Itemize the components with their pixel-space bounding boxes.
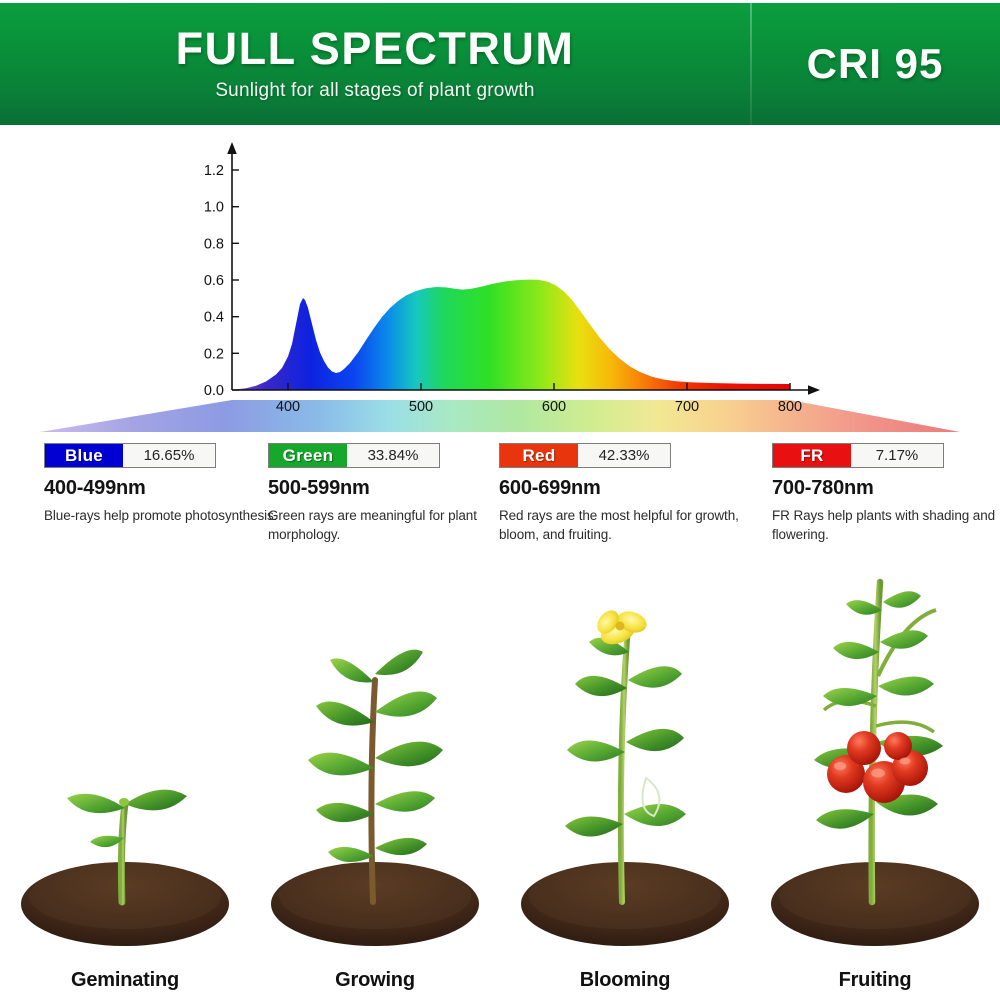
legend-description: Green rays are meaningful for plant morp… <box>268 506 506 544</box>
x-tick-label: 800 <box>778 399 802 415</box>
spectrum-chart: 0.0 0.2 0.4 0.6 0.8 1.0 1.2 400 500 600 <box>0 128 1000 438</box>
stage-blooming: Blooming <box>500 556 750 1000</box>
stage-fruiting: Fruiting <box>750 556 1000 1000</box>
legend-description: Red rays are the most helpful for growth… <box>499 506 767 544</box>
legend-range: 600-699nm <box>499 477 767 500</box>
header-banner: FULL SPECTRUM Sunlight for all stages of… <box>0 3 1000 125</box>
y-tick-label: 0.4 <box>204 310 224 326</box>
flowering-plant-illustration <box>500 556 750 956</box>
y-tick-label: 0.2 <box>204 346 224 362</box>
stage-label: Fruiting <box>750 969 1000 992</box>
x-tick-label: 600 <box>542 399 566 415</box>
x-tick-label: 500 <box>409 399 433 415</box>
header-right-section: CRI 95 <box>750 3 1000 125</box>
page-title: FULL SPECTRUM <box>176 26 575 71</box>
legend-range: 700-780nm <box>772 477 1000 500</box>
y-tick-label: 0.0 <box>204 383 224 399</box>
y-axis-ticks <box>232 170 239 390</box>
stage-label: Blooming <box>500 969 750 992</box>
legend-item-green: Green 33.84% 500-599nm Green rays are me… <box>268 443 506 544</box>
legend-item-fr: FR 7.17% 700-780nm FR Rays help plants w… <box>772 443 1000 544</box>
stage-label: Geminating <box>0 969 250 992</box>
young-plant-illustration <box>250 556 500 956</box>
spectrum-fan-band <box>40 400 960 432</box>
spd-curve-area <box>232 168 790 390</box>
legend-chip-green: Green 33.84% <box>268 443 440 468</box>
y-tick-label: 1.2 <box>204 163 224 179</box>
cri-badge: CRI 95 <box>807 40 944 88</box>
page-subtitle: Sunlight for all stages of plant growth <box>215 80 534 102</box>
legend-chip-name: Green <box>269 444 347 467</box>
spectrum-chart-svg: 0.0 0.2 0.4 0.6 0.8 1.0 1.2 400 500 600 <box>0 128 1000 438</box>
spectrum-legend: Blue 16.65% 400-499nm Blue-rays help pro… <box>0 443 1000 558</box>
y-axis-labels: 0.0 0.2 0.4 0.6 0.8 1.0 1.2 <box>204 163 224 399</box>
legend-description: FR Rays help plants with shading and flo… <box>772 506 1000 544</box>
y-tick-label: 1.0 <box>204 200 224 216</box>
legend-chip-blue: Blue 16.65% <box>44 443 216 468</box>
legend-range: 500-599nm <box>268 477 506 500</box>
legend-chip-percent: 33.84% <box>347 444 439 467</box>
legend-chip-fr: FR 7.17% <box>772 443 944 468</box>
stage-geminating: Geminating <box>0 556 250 1000</box>
spectrum-infographic-page: FULL SPECTRUM Sunlight for all stages of… <box>0 0 1000 1000</box>
legend-chip-red: Red 42.33% <box>499 443 671 468</box>
legend-chip-percent: 42.33% <box>578 444 670 467</box>
x-tick-label: 700 <box>675 399 699 415</box>
legend-chip-percent: 16.65% <box>123 444 215 467</box>
legend-item-red: Red 42.33% 600-699nm Red rays are the mo… <box>499 443 767 544</box>
stage-label: Growing <box>250 969 500 992</box>
legend-description: Blue-rays help promote photosynthesis. <box>44 506 282 525</box>
x-tick-label: 400 <box>276 399 300 415</box>
legend-chip-name: Blue <box>45 444 123 467</box>
seedling-illustration <box>0 556 250 956</box>
legend-chip-name: FR <box>773 444 851 467</box>
legend-range: 400-499nm <box>44 477 282 500</box>
stage-growing: Growing <box>250 556 500 1000</box>
y-tick-label: 0.6 <box>204 273 224 289</box>
legend-item-blue: Blue 16.65% 400-499nm Blue-rays help pro… <box>44 443 282 525</box>
tomato-plant-illustration <box>750 556 1000 956</box>
legend-chip-name: Red <box>500 444 578 467</box>
header-left-section: FULL SPECTRUM Sunlight for all stages of… <box>0 3 750 125</box>
y-tick-label: 0.8 <box>204 236 224 252</box>
growth-stages-row: Geminating Growing <box>0 556 1000 1000</box>
legend-chip-percent: 7.17% <box>851 444 943 467</box>
